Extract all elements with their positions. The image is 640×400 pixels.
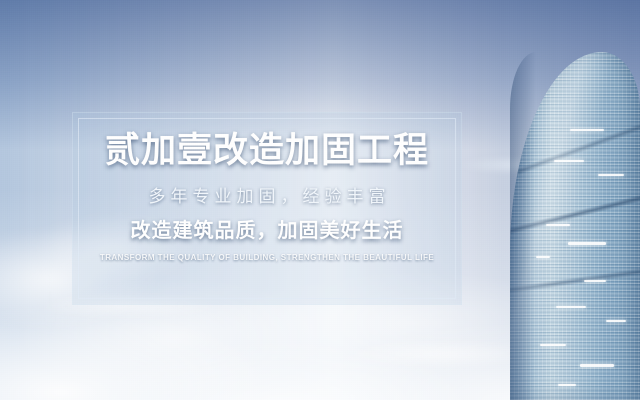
skyscraper-glint [568,242,606,245]
skyscraper-glint [536,256,550,258]
banner-english-tagline: TRANSFORM THE QUALITY OF BUILDING, STREN… [100,253,434,263]
skyscraper-glint [556,306,586,308]
hero-banner: 贰加壹改造加固工程 多年专业加固，经验丰富 改造建筑品质，加固美好生活 TRAN… [0,0,640,400]
banner-text-block: 贰加壹改造加固工程 多年专业加固，经验丰富 改造建筑品质，加固美好生活 TRAN… [72,112,462,305]
skyscraper-glint [580,364,614,367]
skyscraper-glint [540,344,566,346]
skyscraper-glint [570,129,604,131]
skyscraper-edge-shadow [510,52,536,400]
skyscraper-glint [554,160,584,162]
skyscraper-glint [546,224,570,226]
banner-headline: 贰加壹改造加固工程 [105,133,429,170]
skyscraper-glint [558,384,576,386]
skyscraper-glint [598,174,624,176]
skyscraper-glint [606,320,626,322]
skyscraper-image [510,52,640,400]
banner-subline: 多年专业加固，经验丰富 [144,187,391,207]
banner-tagline: 改造建筑品质，加固美好生活 [131,219,404,243]
skyscraper-glint [584,280,606,282]
